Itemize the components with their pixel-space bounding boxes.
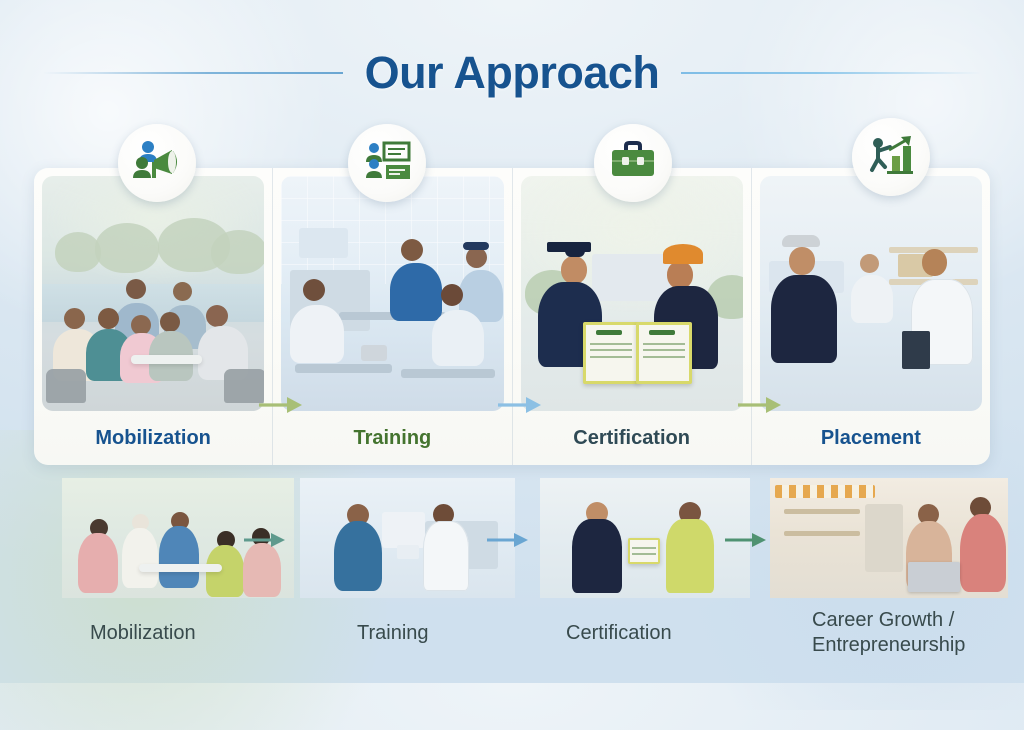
arrow-training-to-certification: [486, 530, 530, 550]
summary-label-career-growth: Career Growth / Entrepreneurship: [812, 608, 997, 658]
step-label-row-training: Training: [273, 411, 511, 465]
briefcase-icon: [609, 140, 657, 187]
summary-label-training: Training: [357, 621, 429, 646]
summary-image-training: [300, 478, 515, 598]
approach-steps-card: Mobilization: [34, 168, 990, 465]
arrow-training-to-certification: [497, 394, 543, 416]
step-label-training: Training: [353, 427, 431, 450]
arrow-mobilization-to-training: [258, 394, 304, 416]
step-icon-badge-certification: [594, 124, 672, 202]
title-rule-left: [43, 72, 343, 74]
people-training-board-icon: [362, 138, 412, 189]
approach-summary-band: Mobilization Training Certification Care…: [0, 478, 1024, 683]
page-header: Our Approach: [0, 42, 1024, 104]
step-label-row-mobilization: Mobilization: [34, 411, 272, 465]
growth-chart-person-icon: [866, 132, 916, 183]
step-label-placement: Placement: [821, 427, 921, 450]
step-panel-certification[interactable]: Certification: [512, 168, 751, 465]
summary-label-career-growth-line1: Career Growth /: [812, 609, 954, 631]
title-rule-right: [681, 72, 981, 74]
megaphone-people-icon: [132, 138, 182, 189]
step-icon-badge-placement: [852, 118, 930, 196]
step-image-certification: [521, 176, 743, 411]
arrow-certification-to-placement: [737, 394, 783, 416]
summary-label-certification: Certification: [566, 621, 672, 646]
step-icon-badge-mobilization: [118, 124, 196, 202]
step-label-row-placement: Placement: [752, 411, 990, 465]
page-title: Our Approach: [365, 47, 660, 99]
step-icon-badge-training: [348, 124, 426, 202]
arrow-certification-to-career-growth: [724, 530, 768, 550]
step-label-certification: Certification: [573, 427, 690, 450]
summary-image-career-growth: [770, 478, 1008, 598]
step-panel-placement[interactable]: Placement: [751, 168, 990, 465]
step-panel-mobilization[interactable]: Mobilization: [34, 168, 272, 465]
summary-label-mobilization: Mobilization: [90, 621, 196, 646]
step-panel-training[interactable]: Training: [272, 168, 511, 465]
step-label-mobilization: Mobilization: [95, 427, 211, 450]
step-image-mobilization: [42, 176, 264, 411]
step-image-placement: [760, 176, 982, 411]
arrow-mobilization-to-training: [243, 530, 287, 550]
step-image-training: [281, 176, 503, 411]
step-label-row-certification: Certification: [513, 411, 751, 465]
summary-image-certification: [540, 478, 750, 598]
summary-label-career-growth-line2: Entrepreneurship: [812, 634, 965, 656]
summary-labels: Mobilization Training Certification Care…: [0, 608, 1024, 683]
